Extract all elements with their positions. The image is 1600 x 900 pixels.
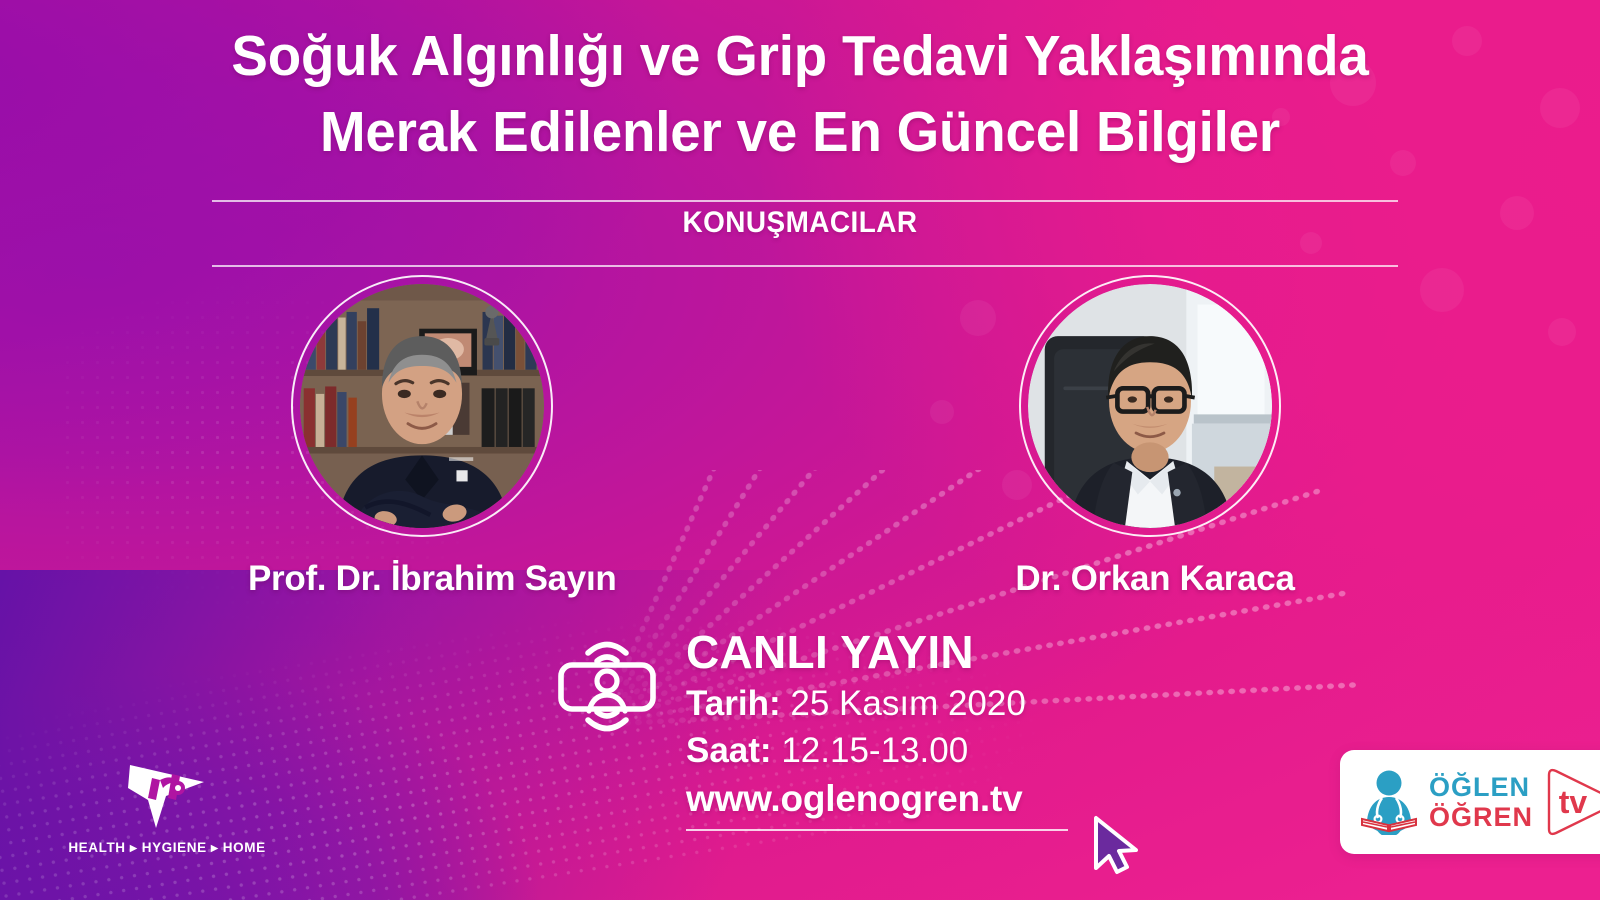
logo-line-ogren: ÖĞREN [1429,804,1533,831]
live-time-value: 12.15-13.00 [781,731,968,770]
avatar [1028,284,1272,528]
speaker-name: Prof. Dr. İbrahim Sayın [248,559,572,599]
title-line-1: Soğuk Algınlığı ve Grip Tedavi Yaklaşımı… [32,18,1568,94]
live-broadcast-icon [552,628,662,738]
live-date-label: Tarih: [686,684,781,723]
bokeh-circle [1420,268,1464,312]
live-text-group: CANLI YAYIN Tarih: 25 Kasım 2020 Saat: 1… [686,624,1068,831]
url-underline [686,829,1068,831]
speaker-card-1: Odak Hospital [272,275,572,599]
avatar-ring [1019,275,1281,537]
title-line-2: Merak Edilenler ve En Güncel Bilgiler [32,94,1568,170]
live-date-row: Tarih: 25 Kasım 2020 [686,680,1068,727]
live-date-value: 25 Kasım 2020 [790,684,1025,723]
live-url[interactable]: www.oglenogren.tv [686,774,1068,824]
oglenogren-wordmark: ÖĞLEN ÖĞREN [1429,774,1533,831]
logo-line-oglen: ÖĞLEN [1429,774,1533,801]
svg-text:tv: tv [1559,784,1588,820]
bokeh-circle [1548,318,1576,346]
promo-banner: Soğuk Algınlığı ve Grip Tedavi Yaklaşımı… [0,0,1600,900]
section-label-speakers: KONUŞMACILAR [56,206,1544,240]
divider-bottom [212,265,1398,267]
mouse-pointer-cursor [1086,812,1142,878]
rb-logo-mark [126,760,208,832]
avatar-ring: Odak Hospital [291,275,553,537]
speaker-photo-orkan-karaca [1028,284,1272,528]
live-heading: CANLI YAYIN [686,624,1068,680]
speaker-card-2: Dr. Orkan Karaca [1000,275,1300,599]
page-title: Soğuk Algınlığı ve Grip Tedavi Yaklaşımı… [0,18,1600,170]
rb-tagline: HEALTH ▸ HYGIENE ▸ HOME [62,840,272,856]
oglenogren-tv-logo[interactable]: ÖĞLEN ÖĞREN tv [1340,750,1600,854]
speaker-photo-ibrahim-sayin: Odak Hospital [300,284,544,528]
doctor-reading-book-icon [1358,769,1420,835]
play-triangle-icon: tv [1539,765,1600,839]
divider-top [212,200,1398,202]
live-time-label: Saat: [686,731,772,770]
live-time-row: Saat: 12.15-13.00 [686,727,1068,774]
bokeh-circle [960,300,996,336]
rb-logo: HEALTH ▸ HYGIENE ▸ HOME [62,760,272,856]
bokeh-circle [930,400,954,424]
speaker-name: Dr. Orkan Karaca [1010,559,1300,599]
avatar: Odak Hospital [300,284,544,528]
